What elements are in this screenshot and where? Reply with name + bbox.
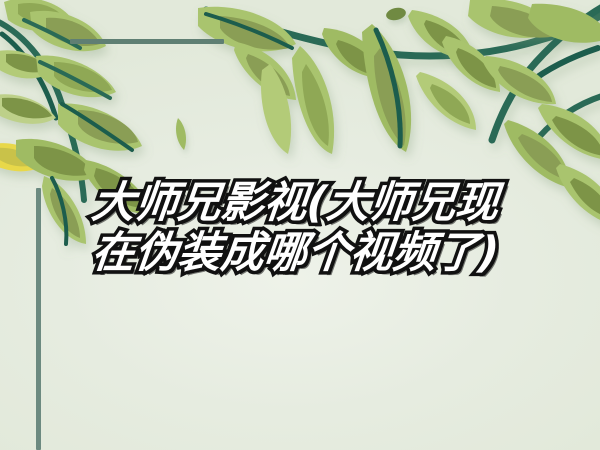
page-title: 大师兄影视(大师兄现 在伪装成哪个视频了) [92, 180, 532, 276]
title-line-1: 大师兄影视(大师兄现 [90, 180, 535, 226]
poster-canvas: 大师兄影视(大师兄现 在伪装成哪个视频了) [0, 0, 600, 450]
vertical-rule-decoration [36, 188, 41, 450]
title-line-2: 在伪装成哪个视频了) [90, 230, 535, 276]
horizontal-rule-decoration [70, 39, 224, 44]
